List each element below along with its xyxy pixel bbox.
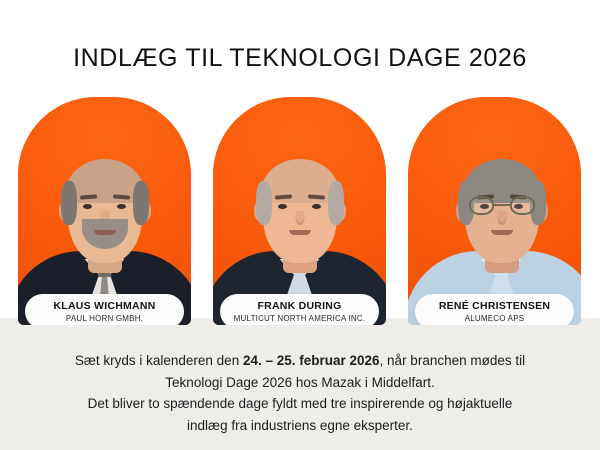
speaker-company: PAUL HORN GMBH. bbox=[66, 314, 143, 323]
portrait-rene-christensen bbox=[415, 97, 581, 325]
speakers-row: KLAUS WICHMANN PAUL HORN GMBH. FRANK DUR… bbox=[18, 97, 582, 325]
footer-line-1-suffix: , når branchen mødes til bbox=[380, 353, 526, 368]
speaker-company: ALUMECO APS bbox=[465, 314, 525, 323]
footer-line-1-prefix: Sæt kryds i kalenderen den bbox=[75, 353, 243, 368]
footer-line-3: Det bliver to spændende dage fyldt med t… bbox=[0, 393, 600, 415]
speaker-name-pill-2: FRANK DURING MULTICUT NORTH AMERICA INC. bbox=[220, 294, 379, 325]
speaker-name: FRANK DURING bbox=[257, 300, 341, 312]
speaker-name-pill-1: KLAUS WICHMANN PAUL HORN GMBH. bbox=[25, 294, 184, 325]
speaker-card-2[interactable]: FRANK DURING MULTICUT NORTH AMERICA INC. bbox=[213, 97, 386, 325]
footer-copy: Sæt kryds i kalenderen den 24. – 25. feb… bbox=[0, 350, 600, 436]
portrait-frank-during bbox=[213, 97, 386, 325]
speaker-company: MULTICUT NORTH AMERICA INC. bbox=[234, 314, 366, 323]
page-title: INDLÆG TIL TEKNOLOGI DAGE 2026 bbox=[0, 44, 600, 73]
portrait-klaus-wichmann bbox=[18, 97, 191, 325]
footer-line-1: Sæt kryds i kalenderen den 24. – 25. feb… bbox=[0, 350, 600, 372]
speaker-card-3[interactable]: RENÉ CHRISTENSEN ALUMECO APS bbox=[408, 97, 581, 325]
speaker-name: RENÉ CHRISTENSEN bbox=[439, 300, 550, 312]
speaker-name: KLAUS WICHMANN bbox=[53, 300, 155, 312]
speaker-card-1[interactable]: KLAUS WICHMANN PAUL HORN GMBH. bbox=[18, 97, 191, 325]
footer-event-date: 24. – 25. februar 2026 bbox=[243, 353, 380, 368]
footer-line-2: Teknologi Dage 2026 hos Mazak i Middelfa… bbox=[0, 372, 600, 394]
footer-line-4: indlæg fra industriens egne eksperter. bbox=[0, 415, 600, 437]
speaker-name-pill-3: RENÉ CHRISTENSEN ALUMECO APS bbox=[415, 294, 574, 325]
